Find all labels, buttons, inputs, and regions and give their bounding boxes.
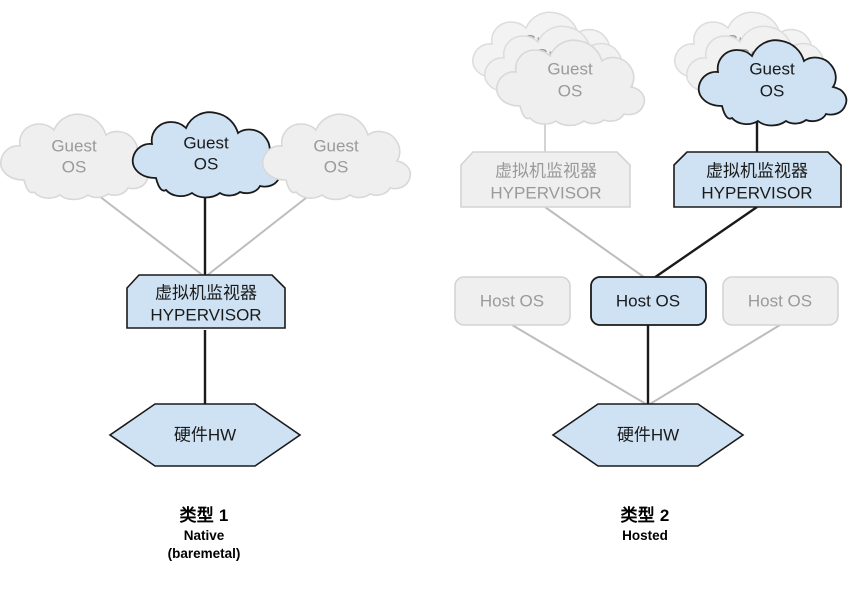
hardware-hexagon-type1[interactable]: 硬件HW	[110, 404, 300, 466]
hypervisor-label-cn: 虚拟机监视器	[706, 161, 808, 180]
guest-os-label-line2: OS	[760, 81, 785, 100]
host-os-box-left[interactable]: Host OS	[455, 277, 570, 325]
guest-os-label-line1: Guest	[51, 136, 97, 155]
host-os-box-center[interactable]: Host OS	[591, 277, 706, 325]
guest-os-cloud-stack-left[interactable]: Guest Guest Guest OS	[473, 12, 645, 125]
host-os-label: Host OS	[480, 291, 544, 310]
caption-type2-main: 类型 2	[545, 505, 745, 527]
diagram-canvas: Guest OS Guest OS Guest OS 虚拟机监视器 HYPERV…	[0, 0, 864, 607]
guest-os-cloud-right[interactable]: Guest OS	[263, 114, 411, 199]
hypervisor-box-right[interactable]: 虚拟机监视器 HYPERVISOR	[674, 152, 841, 207]
guest-os-label-line2: OS	[194, 154, 219, 173]
hypervisor-box-left[interactable]: 虚拟机监视器 HYPERVISOR	[461, 152, 630, 207]
line-host-os-right-to-hardware	[650, 325, 780, 404]
hypervisor-label-cn: 虚拟机监视器	[495, 161, 597, 180]
guest-os-label-line2: OS	[558, 81, 583, 100]
line-host-os-left-to-hardware	[512, 325, 646, 404]
guest-os-label-line1: Guest	[183, 133, 229, 152]
guest-os-label-line2: OS	[62, 157, 87, 176]
line-hypervisor-left-to-host-os-center	[545, 207, 648, 280]
hypervisor-label-en: HYPERVISOR	[701, 183, 812, 202]
hardware-hexagon-type2[interactable]: 硬件HW	[553, 404, 743, 466]
guest-os-label-line2: OS	[324, 157, 349, 176]
hardware-label: 硬件HW	[174, 425, 236, 444]
hypervisor-label-en: HYPERVISOR	[150, 305, 261, 324]
hardware-label: 硬件HW	[617, 425, 679, 444]
caption-type2-sub: Hosted	[545, 527, 745, 545]
guest-os-cloud-left[interactable]: Guest OS	[1, 114, 149, 199]
caption-type1-sub2: (baremetal)	[104, 545, 304, 563]
host-os-label: Host OS	[616, 291, 680, 310]
host-os-box-right[interactable]: Host OS	[723, 277, 838, 325]
guest-os-label-line1: Guest	[313, 136, 359, 155]
hypervisor-label-en: HYPERVISOR	[490, 183, 601, 202]
guest-os-cloud-stack-right[interactable]: Guest Guest Guest OS	[675, 12, 847, 125]
caption-type1: 类型 1 Native (baremetal)	[104, 505, 304, 563]
hypervisor-box-center[interactable]: 虚拟机监视器 HYPERVISOR	[127, 275, 285, 328]
hypervisor-label-cn: 虚拟机监视器	[155, 283, 257, 302]
caption-type1-main: 类型 1	[104, 505, 304, 527]
line-hypervisor-right-to-host-os-center	[651, 207, 757, 280]
caption-type1-sub: Native	[104, 527, 304, 545]
guest-os-cloud-center[interactable]: Guest OS	[133, 112, 281, 197]
host-os-label: Host OS	[748, 291, 812, 310]
panel-type1: Guest OS Guest OS Guest OS 虚拟机监视器 HYPERV…	[1, 112, 411, 466]
guest-os-label-line1: Guest	[547, 59, 593, 78]
guest-os-label-line1: Guest	[749, 59, 795, 78]
caption-type2: 类型 2 Hosted	[545, 505, 745, 545]
panel-type2: Guest Guest Guest OS Guest	[455, 12, 846, 466]
